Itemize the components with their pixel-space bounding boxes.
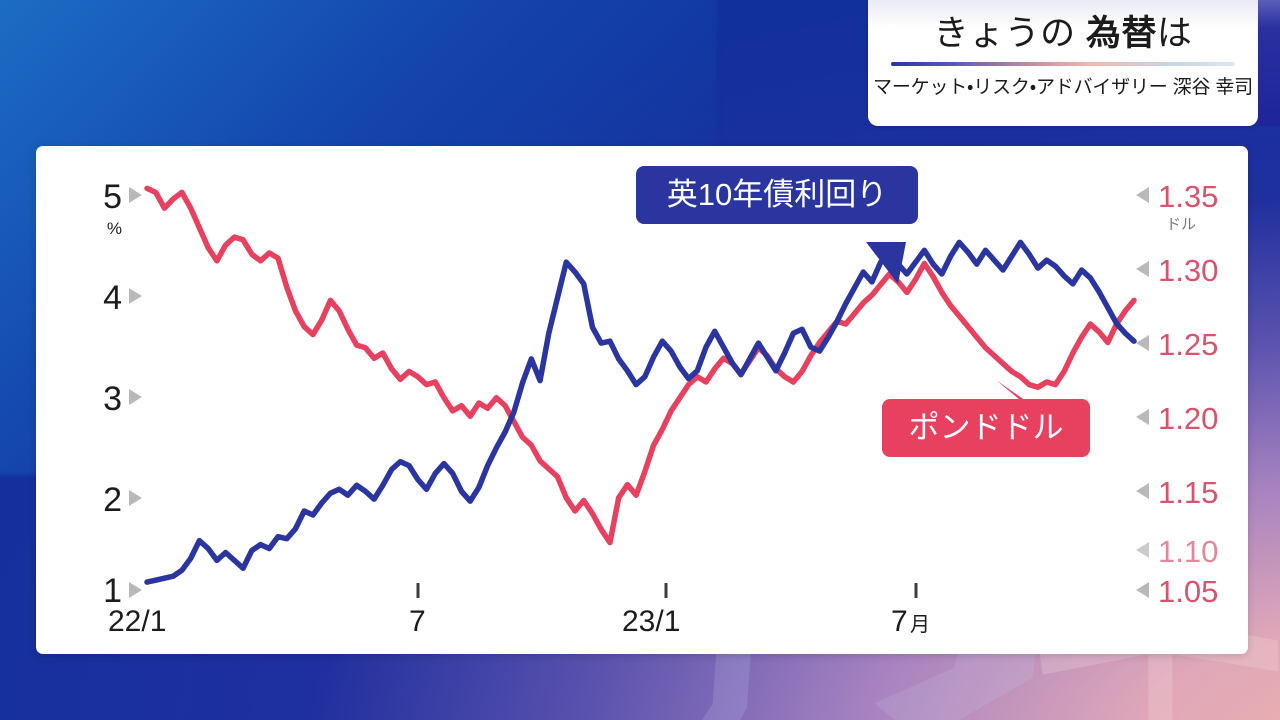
line-chart: 5 % 4 3 2 1 xyxy=(36,146,1248,654)
right-axis-tick-105: 1.05 xyxy=(1158,574,1218,609)
right-axis-arrow-marks xyxy=(1136,187,1149,598)
x-tick-label-3-suffix: 月 xyxy=(910,614,930,636)
x-tick-label-3-num: 7 xyxy=(891,605,908,638)
left-axis-tick-2: 2 xyxy=(103,481,122,519)
right-axis-tick-125: 1.25 xyxy=(1158,327,1218,362)
left-axis-tick-5: 5 xyxy=(103,178,122,216)
right-axis-tick-135: 1.35 xyxy=(1158,179,1218,214)
left-axis: 5 % 4 3 2 1 xyxy=(103,178,142,610)
callout-pink-label: ポンドドル xyxy=(909,410,1064,445)
series-line-pound-dollar xyxy=(147,188,1134,542)
right-axis-unit: ドル xyxy=(1166,216,1196,233)
right-axis-tick-130: 1.30 xyxy=(1158,253,1218,288)
page-title-prefix: きょうの xyxy=(934,14,1086,53)
right-axis: 1.35 ドル 1.30 1.25 1.20 1.15 1.10 1.05 xyxy=(1136,179,1218,609)
page-title-keyword: 為替 xyxy=(1086,14,1157,53)
page-title-suffix: は xyxy=(1157,14,1193,53)
callout-blue-label: 英10年債利回り xyxy=(667,177,887,212)
x-axis-labels: 22/1 7 23/1 7 月 xyxy=(108,605,930,638)
title-card-side-band xyxy=(1258,0,1280,126)
right-axis-tick-120: 1.20 xyxy=(1158,401,1218,436)
x-axis-baseline xyxy=(147,583,1134,598)
x-tick-label-0: 22/1 xyxy=(108,605,166,638)
title-divider xyxy=(891,62,1235,66)
left-axis-unit: % xyxy=(107,219,122,238)
chart-card: 5 % 4 3 2 1 xyxy=(36,146,1248,654)
callout-pound-dollar: ポンドドル xyxy=(882,380,1090,457)
page-title: きょうの 為替は xyxy=(934,16,1193,53)
callout-uk-10y-yield: 英10年債利回り xyxy=(636,166,918,284)
title-card: きょうの 為替は マーケット・リスク・アドバイザリー 深谷 幸司 xyxy=(868,0,1258,126)
x-tick-label-2: 23/1 xyxy=(622,605,680,638)
left-axis-arrow-marks xyxy=(129,187,142,598)
x-tick-label-1: 7 xyxy=(409,605,426,638)
title-subtitle: マーケット・リスク・アドバイザリー 深谷 幸司 xyxy=(873,72,1253,99)
left-axis-tick-3: 3 xyxy=(103,380,122,418)
left-axis-tick-4: 4 xyxy=(103,279,122,317)
right-axis-tick-110: 1.10 xyxy=(1158,534,1218,569)
right-axis-tick-115: 1.15 xyxy=(1158,475,1218,510)
